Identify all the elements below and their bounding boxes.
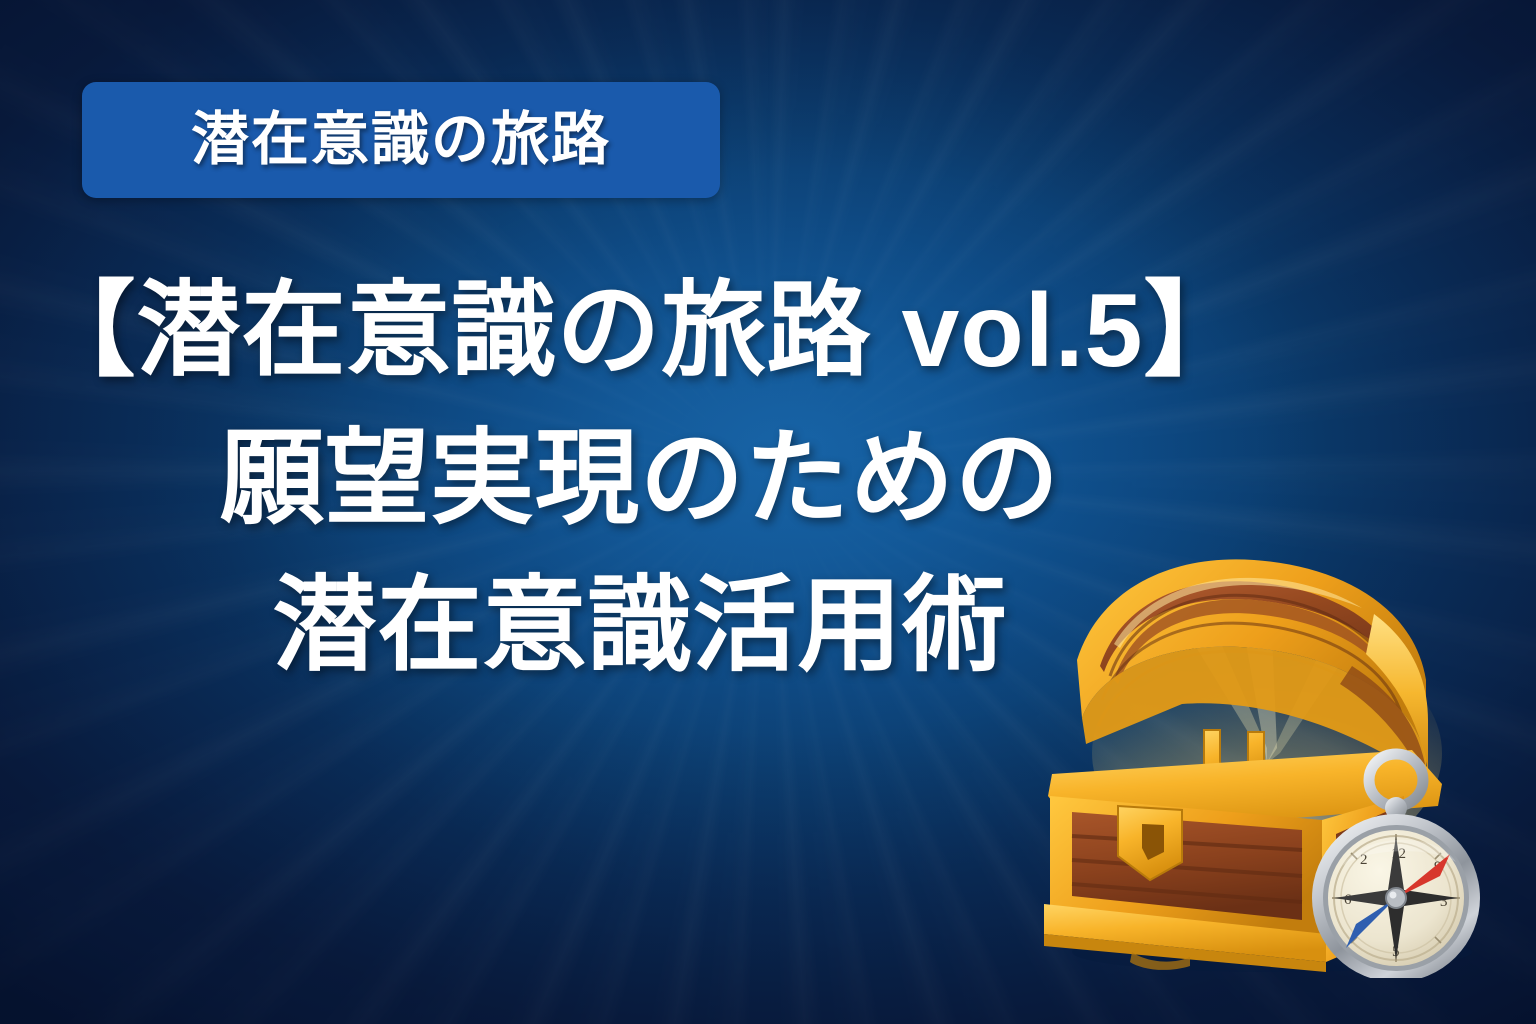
treasure-chest-illustration: 12 3 5 6 2 9: [1022, 548, 1492, 978]
category-badge-label: 潜在意識の旅路: [191, 111, 611, 169]
thumbnail-canvas: 潜在意識の旅路 【潜在意識の旅路 vol.5】 願望実現のための 潜在意識活用術: [0, 0, 1536, 1024]
title-line-1: 【潜在意識の旅路 vol.5】: [0, 258, 1280, 406]
treasure-chest-svg: 12 3 5 6 2 9: [1022, 548, 1492, 978]
title-line-2: 願望実現のための: [0, 406, 1280, 554]
compass-pivot: [1386, 888, 1406, 908]
category-badge: 潜在意識の旅路: [82, 82, 720, 198]
